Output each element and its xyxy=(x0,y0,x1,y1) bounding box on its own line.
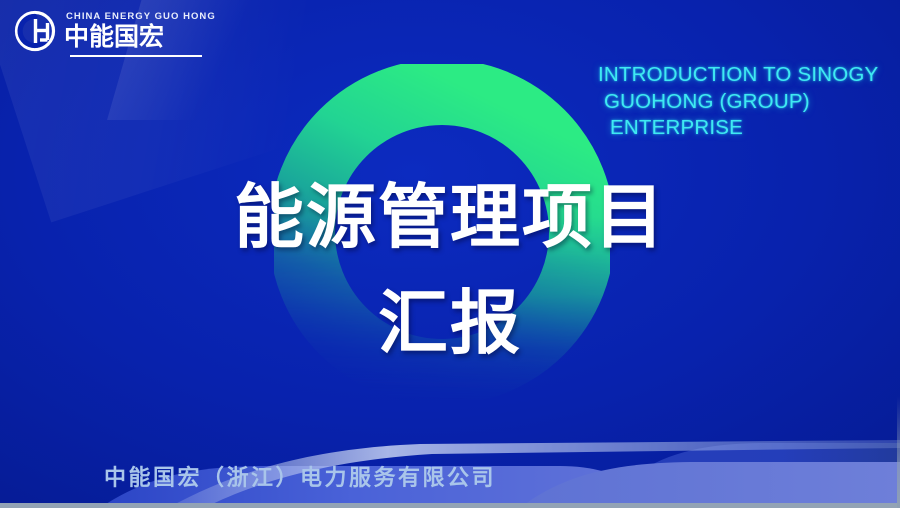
guohong-emblem-icon xyxy=(14,10,56,52)
brand-logo[interactable]: CHINA ENERGY GUO HONG 中能国宏 xyxy=(14,8,216,54)
slide-title-line-1: 能源管理项目 xyxy=(0,182,900,252)
english-subtitle-line-2: GUOHONG (GROUP) xyxy=(598,89,900,116)
english-subtitle-line-1: INTRODUCTION TO SINOGY xyxy=(598,62,900,89)
logo-english-name: CHINA ENERGY GUO HONG xyxy=(66,12,216,22)
company-name-footer: 中能国宏（浙江）电力服务有限公司 xyxy=(104,466,496,490)
logo-underline-rule xyxy=(70,55,202,58)
logo-chinese-name: 中能国宏 xyxy=(64,25,216,50)
english-subtitle-heading: INTRODUCTION TO SINOGY GUOHONG (GROUP) E… xyxy=(598,62,900,142)
english-subtitle-line-3: ENTERPRISE xyxy=(598,115,900,142)
presentation-slide: CHINA ENERGY GUO HONG 中能国宏 INTRODUCTION … xyxy=(0,0,900,508)
slide-bottom-edge xyxy=(0,503,900,508)
slide-title-line-2: 汇报 xyxy=(0,288,900,358)
